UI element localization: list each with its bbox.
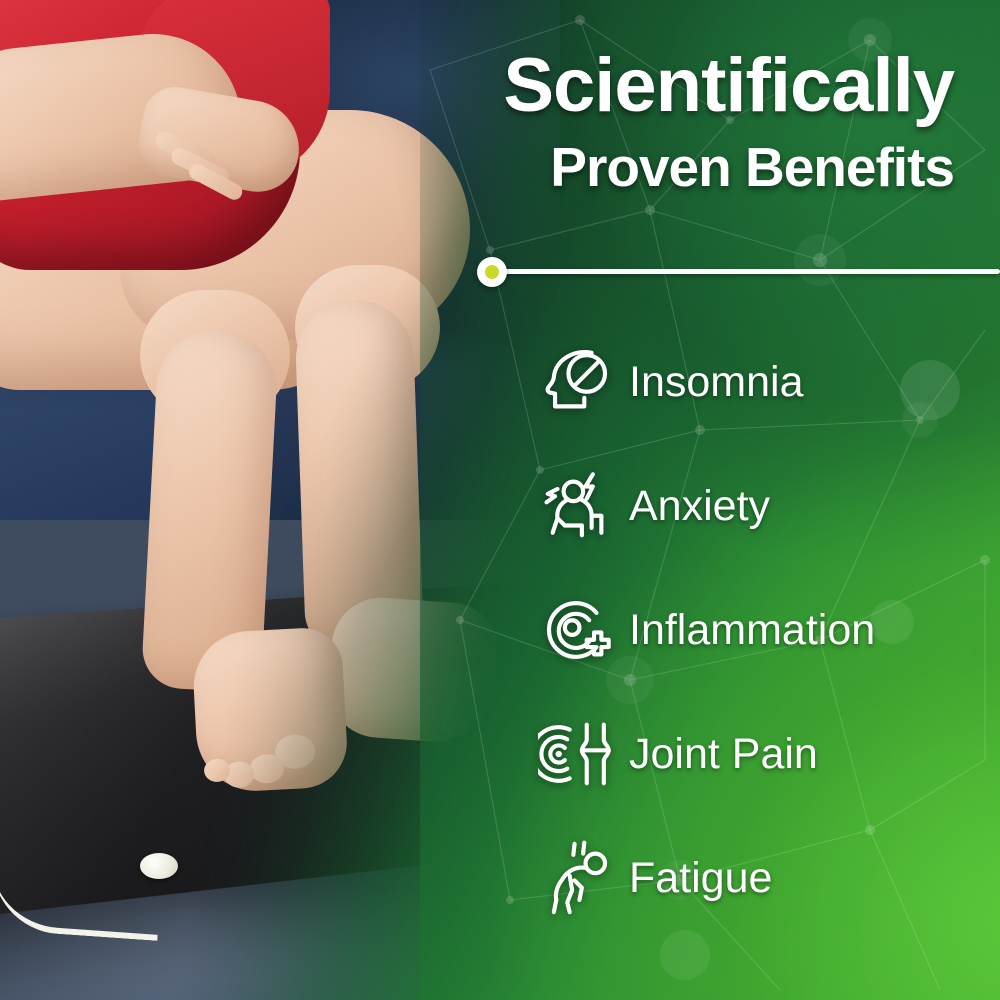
benefit-item-anxiety: Anxiety	[525, 444, 1000, 568]
knee-joint-waves-icon	[525, 715, 629, 793]
benefit-item-joint-pain: Joint Pain	[525, 692, 1000, 816]
toe	[249, 753, 284, 784]
benefit-label: Insomnia	[629, 361, 803, 404]
headline-line-2: Proven Benefits	[503, 140, 954, 195]
hunched-person-icon	[525, 839, 629, 917]
divider-accent-dot	[485, 265, 499, 279]
mat-snap-connector	[140, 853, 178, 879]
headline: Scientifically Proven Benefits	[503, 48, 954, 195]
benefit-item-fatigue: Fatigue	[525, 816, 1000, 940]
benefit-label: Inflammation	[629, 609, 875, 652]
foot-left	[191, 626, 349, 794]
benefit-item-inflammation: Inflammation	[525, 568, 1000, 692]
product-benefits-banner: Scientifically Proven Benefits Insomnia	[0, 0, 1000, 1000]
seated-person-lightning-icon	[525, 467, 629, 545]
benefit-label: Fatigue	[629, 857, 772, 900]
benefits-list: Insomnia Anxiety	[525, 320, 1000, 940]
benefit-label: Anxiety	[629, 485, 770, 528]
benefit-label: Joint Pain	[629, 733, 818, 776]
headline-line-1: Scientifically	[503, 48, 954, 124]
head-prohibition-icon	[525, 343, 629, 421]
benefit-item-insomnia: Insomnia	[525, 320, 1000, 444]
concentric-rings-plus-icon	[525, 591, 629, 669]
divider-line	[486, 269, 1000, 274]
